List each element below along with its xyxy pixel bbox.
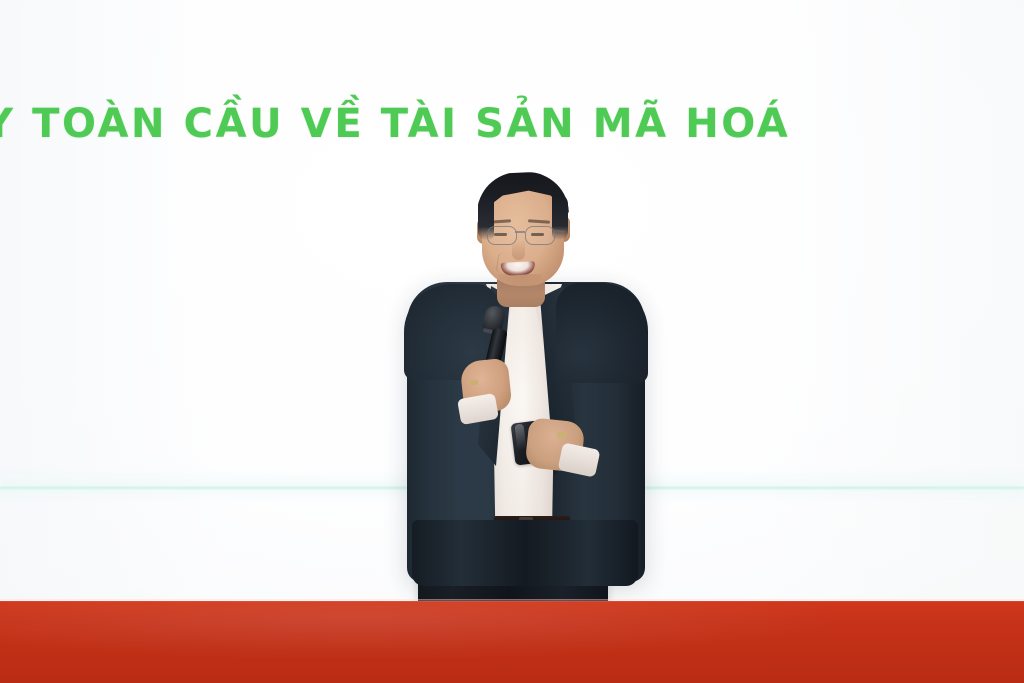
speaker-jacket-hem (412, 520, 638, 586)
speaker-shoulder-right (556, 283, 648, 383)
speaker-ring-right-hand (557, 432, 566, 438)
stage-red-band-sheen (0, 601, 1024, 683)
speaker-chin-shadow (498, 274, 542, 286)
speaker-nose (512, 240, 525, 260)
speaker-ring-left-hand (470, 380, 478, 385)
eyeglasses-lens-right (525, 226, 555, 245)
eyeglasses-bridge (515, 231, 525, 233)
speaker-figure (0, 0, 1024, 683)
screenshot-root: Y TOÀN CẦU VỀ TÀI SẢN MÃ HOÁ (0, 0, 1024, 683)
